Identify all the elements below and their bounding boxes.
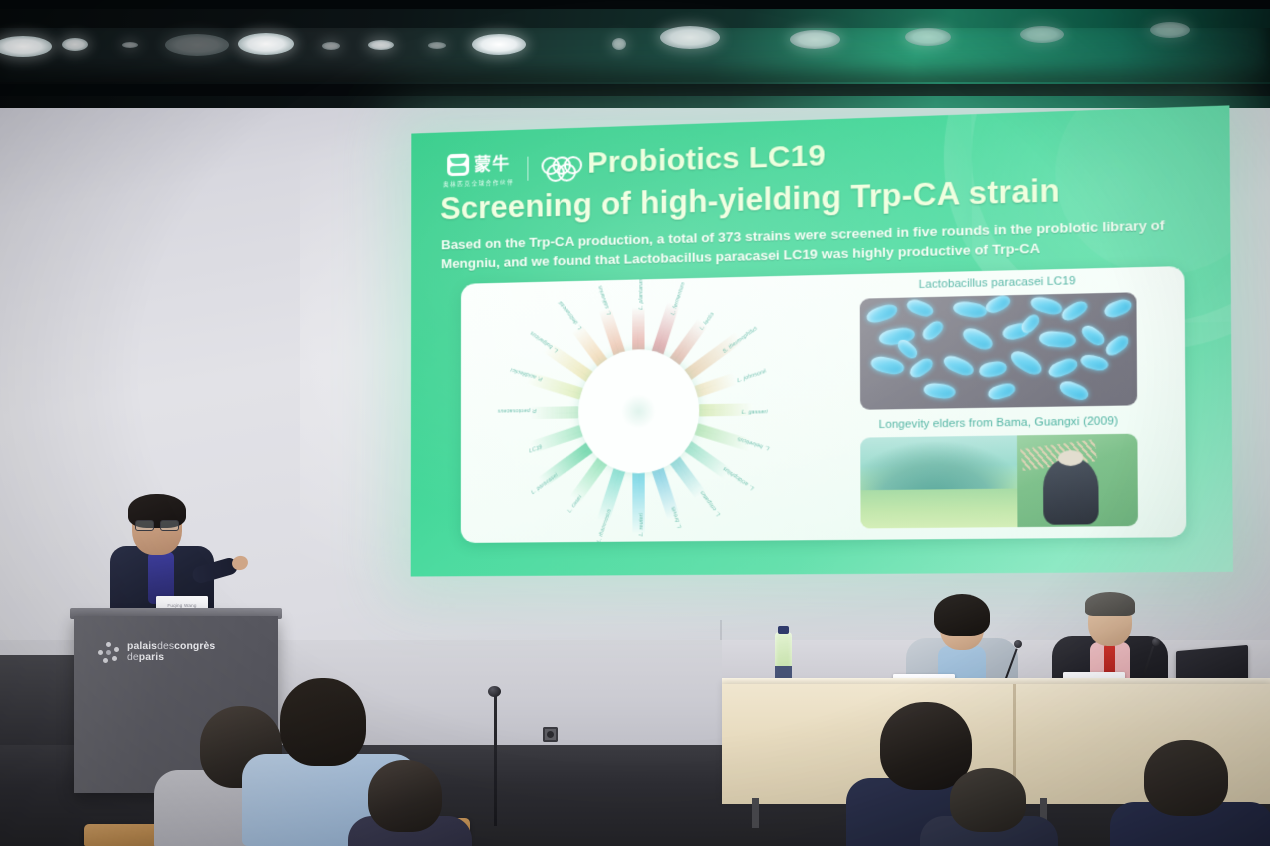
venue-logo-des: des <box>157 641 174 652</box>
mengniu-name-cn: 蒙牛 <box>474 155 510 173</box>
chart-hub <box>578 348 699 474</box>
bacteria-rod <box>1079 353 1110 373</box>
chart-species-label: P. pentosaceus <box>498 407 537 414</box>
panel-table-leg <box>752 798 759 828</box>
downlight-icon <box>472 34 526 55</box>
bacteria-rod <box>960 325 996 354</box>
venue-logo-de: de <box>127 652 139 663</box>
card-right-column: Lactobacillus paracasei LC19 Longevity e… <box>822 273 1178 536</box>
downlight-icon <box>905 28 951 46</box>
elder-head <box>1058 450 1083 466</box>
ceiling-rail-bottom <box>0 84 1270 96</box>
chart-hub-mark <box>621 394 656 429</box>
bacteria-rod <box>1079 322 1108 348</box>
mengniu-tagline-cn: 奥林匹克全球合作伙伴 <box>443 178 514 188</box>
microphone-head-icon <box>1152 638 1160 646</box>
bacteria-rod <box>1057 378 1091 403</box>
chart-species-label: L. casei <box>567 494 584 514</box>
bacteria-rod <box>1103 332 1132 358</box>
audience-head <box>280 678 366 766</box>
downlight-icon <box>165 34 229 56</box>
bacteria-rod <box>907 355 936 380</box>
micrograph-caption: Lactobacillus paracasei LC19 <box>822 273 1176 294</box>
venue-logo-palais: palais <box>127 641 157 652</box>
bottle-cap <box>778 626 789 634</box>
photos-caption: Longevity elders from Bama, Guangxi (200… <box>822 414 1177 432</box>
downlight-icon <box>790 30 840 49</box>
ceiling <box>0 0 1270 108</box>
bacteria-rod <box>923 382 957 400</box>
field-shape <box>860 489 1017 529</box>
downlight-icon <box>62 38 88 51</box>
chart-species-label: L. gasseri <box>742 409 768 416</box>
bacteria-rod <box>869 354 906 376</box>
bacteria-rod <box>1059 298 1090 324</box>
audience-member <box>1124 740 1254 846</box>
speaker-glasses-icon <box>135 520 179 529</box>
brand-divider <box>527 157 528 181</box>
downlight-icon <box>1150 22 1190 38</box>
bacteria-rod <box>865 302 900 326</box>
bacteria-micrograph-image <box>860 292 1137 410</box>
slide-title-line1: Probiotics LC19 <box>587 139 826 181</box>
conference-room-photo: 蒙牛 奥林匹克全球合作伙伴 Probiotics LC19 Screening … <box>0 0 1270 846</box>
downlight-icon <box>612 38 626 50</box>
chart-species-label: L. acidophilus <box>722 465 755 491</box>
bacteria-rod <box>920 318 947 343</box>
panelist-2-hair <box>1085 592 1135 616</box>
bacteria-rod <box>1102 297 1134 321</box>
panelist-1-hair <box>934 594 990 636</box>
chart-species-label: L. johnsonii <box>737 368 768 384</box>
landscape-photo <box>860 435 1017 528</box>
bacteria-rod <box>941 353 976 379</box>
audience-member <box>928 768 1048 846</box>
chart-species-label: L. fermentum <box>670 281 687 315</box>
longevity-photos <box>860 434 1138 529</box>
mengniu-logo: 蒙牛 奥林匹克全球合作伙伴 <box>443 152 514 188</box>
bacteria-rod <box>952 300 988 319</box>
palais-congres-mark-icon <box>98 642 120 664</box>
slide-brand-row: 蒙牛 奥林匹克全球合作伙伴 <box>443 150 590 189</box>
projected-slide: 蒙牛 奥林匹克全球合作伙伴 Probiotics LC19 Screening … <box>411 105 1233 576</box>
downlight-icon <box>368 40 394 50</box>
bacteria-rod <box>895 337 921 362</box>
mengniu-mark-icon <box>447 154 469 177</box>
audience-head <box>1144 740 1228 816</box>
downlight-icon <box>1020 26 1064 43</box>
bacteria-rod <box>978 360 1008 379</box>
chart-species-label: L. crispatus <box>699 489 722 517</box>
elder-photo <box>1017 434 1138 527</box>
olympic-rings-icon <box>542 155 591 181</box>
elder-figure <box>1043 458 1099 525</box>
downlight-icon <box>660 26 720 49</box>
downlight-icon <box>122 42 138 48</box>
bacteria-rod <box>986 381 1017 402</box>
downlight-icon <box>428 42 446 49</box>
circular-phylogenetic-chart: L. plantarumL. fermentumL. lactisS. ther… <box>471 281 810 538</box>
downlight-icon <box>238 33 294 55</box>
chart-species-label: L. reuteri <box>639 513 645 536</box>
venue-logo-congres: congrès <box>174 641 215 652</box>
microphone-head-icon <box>1014 640 1022 648</box>
audience-member <box>352 760 462 846</box>
venue-logo-paris: paris <box>139 652 164 663</box>
slide-content-card: L. plantarumL. fermentumL. lactisS. ther… <box>461 266 1187 543</box>
wall-outlet-icon <box>543 727 558 742</box>
venue-logo: palaisdescongrès deparis <box>98 642 215 664</box>
chart-species-label: L. plantarum <box>638 278 644 310</box>
audience-head <box>950 768 1026 832</box>
bacteria-rod <box>1038 330 1076 349</box>
chart-species-label: L. delbrueckii <box>558 300 583 331</box>
ceiling-rail-top <box>0 0 1270 9</box>
bacteria-rod <box>905 297 936 319</box>
downlight-icon <box>322 42 340 50</box>
bacteria-rod <box>1046 355 1080 380</box>
bacteria-rod <box>983 293 1012 316</box>
bacteria-rod <box>1007 347 1045 378</box>
audience-head <box>368 760 442 832</box>
